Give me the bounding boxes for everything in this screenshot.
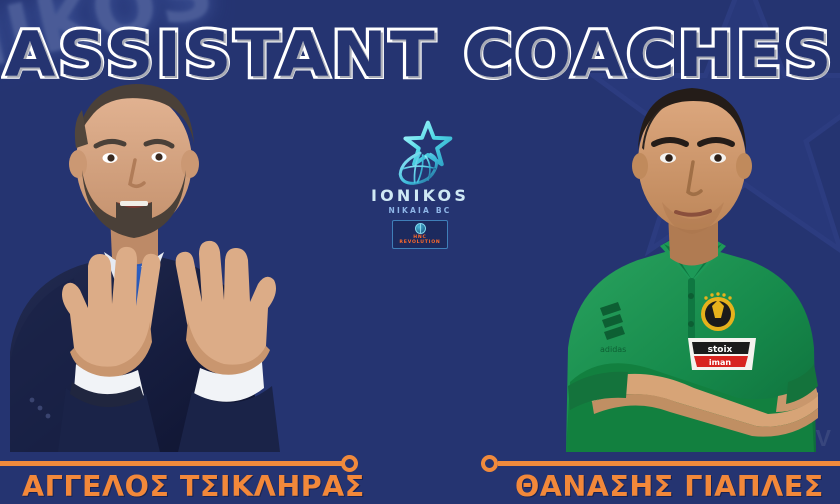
club-logo-subtitle: NIKAIA BC xyxy=(364,206,476,215)
svg-text:adidas: adidas xyxy=(600,345,626,354)
accent-rule-left xyxy=(0,461,342,466)
accent-rule-right xyxy=(498,461,840,466)
badge-text: HNC REVOLUTION xyxy=(393,235,447,246)
star-basketball-icon xyxy=(387,120,453,186)
coach-photo-right: adidas stoix iman xyxy=(542,52,840,452)
club-logo-name: IONIKOS xyxy=(364,188,476,205)
svg-text:stoix: stoix xyxy=(708,345,733,355)
name-bar: ΑΓΓΕΛΟΣ ΤΣΙΚΛΗΡΑΣ ΘΑΝΑΣΗΣ ΓΙΑΠΛΕΣ xyxy=(0,452,840,504)
badge-ball-icon xyxy=(415,223,426,234)
accent-node-right xyxy=(481,455,498,472)
svg-text:iman: iman xyxy=(709,358,731,367)
coach-photo-left xyxy=(0,52,352,452)
graphic-canvas: NIKOS HNC REV xyxy=(0,0,840,504)
coach-name-left: ΑΓΓΕΛΟΣ ΤΣΙΚΛΗΡΑΣ xyxy=(22,470,365,503)
accent-node-left xyxy=(341,455,358,472)
coach-name-right: ΘΑΝΑΣΗΣ ΓΙΑΠΛΕΣ xyxy=(515,470,824,503)
club-logo-badge: HNC REVOLUTION xyxy=(392,220,448,249)
club-logo: IONIKOS NIKAIA BC HNC REVOLUTION xyxy=(364,120,476,249)
